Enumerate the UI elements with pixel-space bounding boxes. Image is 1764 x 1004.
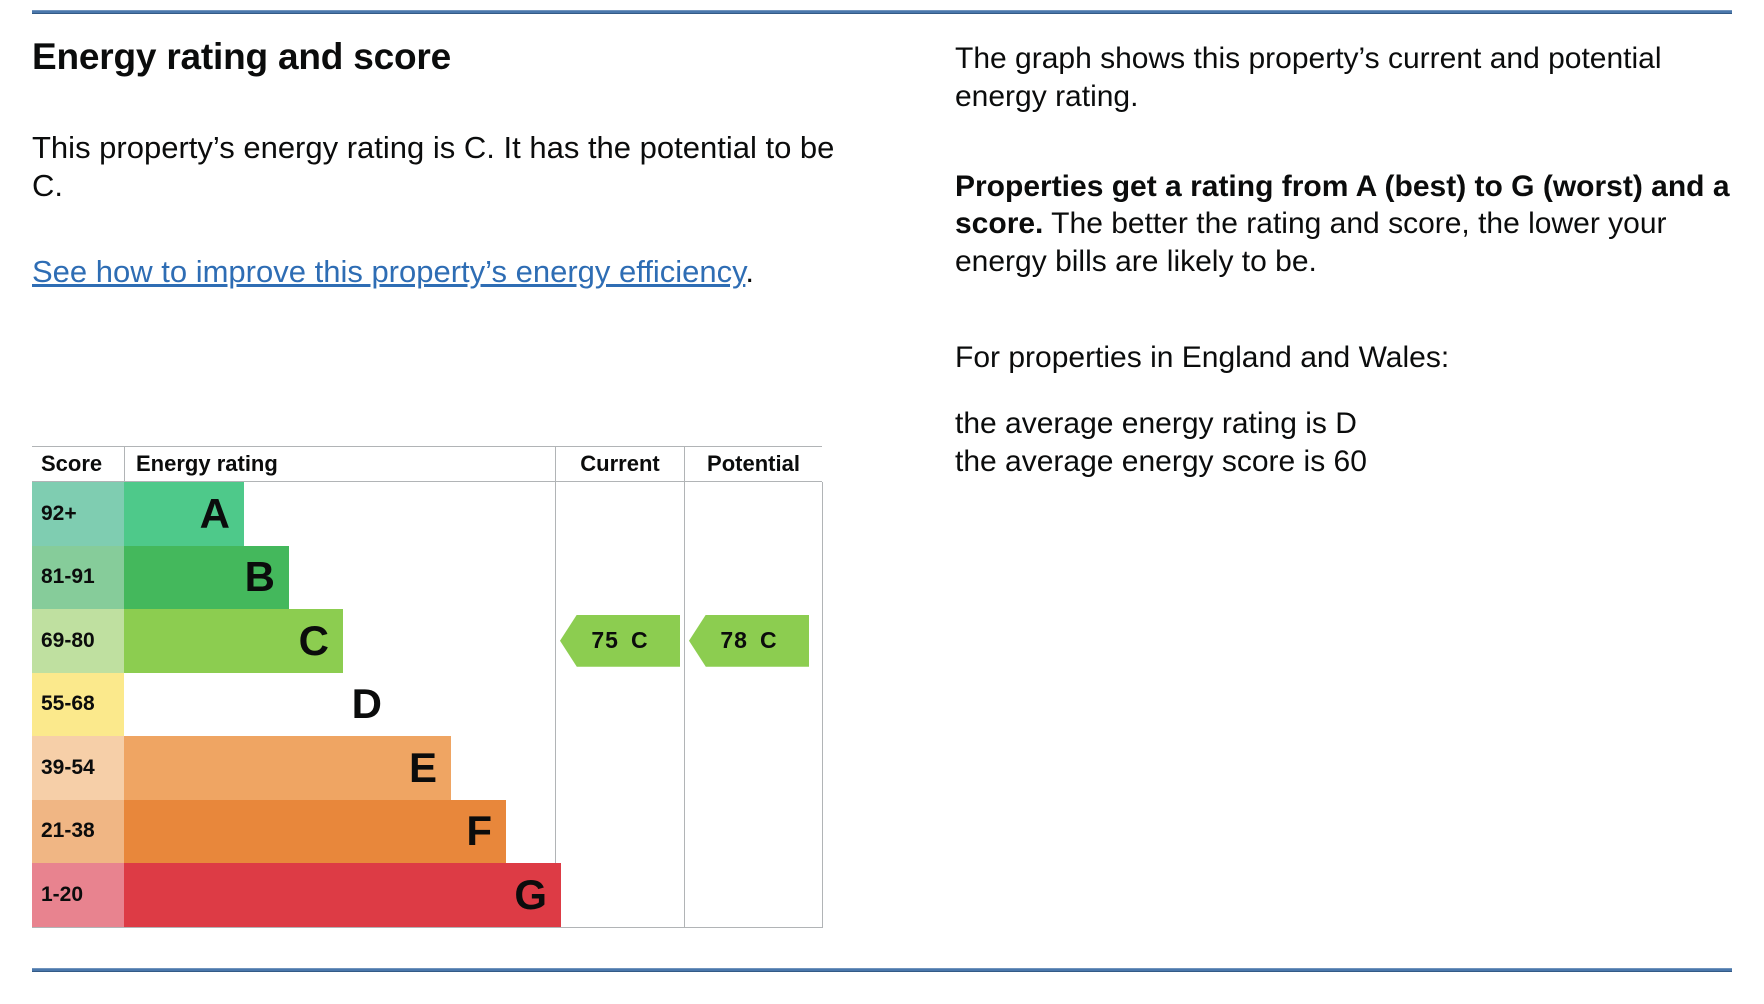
average-score-text: the average energy score is 60 [955, 443, 1745, 481]
band-letter-e: E [409, 747, 437, 789]
region-label-text: For properties in England and Wales: [955, 339, 1745, 377]
potential-rating-letter: C [760, 627, 778, 654]
spacer [32, 205, 852, 253]
rating-band-row-f: 21-38F [32, 800, 555, 864]
band-bar-g: G [124, 863, 561, 927]
band-letter-b: B [245, 556, 275, 598]
rating-band-row-d: 55-68D [32, 673, 555, 737]
current-rating-marker: 75C [560, 615, 680, 667]
rating-band-row-e: 39-54E [32, 736, 555, 800]
average-rating-text: the average energy rating is D [955, 405, 1745, 443]
graph-intro-text: The graph shows this property’s current … [955, 40, 1745, 116]
band-bar-d: D [124, 673, 396, 737]
column-divider-current [555, 482, 556, 927]
column-header-score: Score [32, 447, 124, 481]
graph-bands-area: 92+A81-91B69-80C55-68D39-54E21-38F1-20G7… [32, 482, 822, 927]
column-divider-potential [684, 482, 685, 927]
band-bar-a: A [124, 482, 244, 546]
rating-band-row-g: 1-20G [32, 863, 555, 927]
column-header-energy-rating: Energy rating [124, 447, 555, 481]
band-score-range-c: 69-80 [32, 609, 124, 673]
rating-explanation-rest: The better the rating and score, the low… [955, 207, 1667, 278]
epc-energy-rating-page: Energy rating and score This property’s … [0, 0, 1764, 1004]
rating-summary-text: This property’s energy rating is C. It h… [32, 129, 852, 206]
band-bar-b: B [124, 546, 289, 610]
spacer [32, 79, 852, 129]
band-letter-f: F [466, 810, 492, 852]
band-letter-c: C [299, 620, 329, 662]
energy-rating-graph: Score Energy rating Current Potential 92… [32, 446, 822, 927]
current-score-value: 75 [591, 627, 619, 654]
band-score-range-g: 1-20 [32, 863, 124, 927]
right-column: The graph shows this property’s current … [955, 40, 1745, 480]
rating-band-row-b: 81-91B [32, 546, 555, 610]
band-bar-f: F [124, 800, 506, 864]
top-divider-rule [32, 10, 1732, 14]
band-letter-g: G [514, 874, 547, 916]
left-column: Energy rating and score This property’s … [32, 36, 852, 292]
band-score-range-a: 92+ [32, 482, 124, 546]
band-score-range-b: 81-91 [32, 546, 124, 610]
rating-band-row-a: 92+A [32, 482, 555, 546]
spacer [955, 116, 1745, 168]
band-score-range-d: 55-68 [32, 673, 124, 737]
spacer [955, 377, 1745, 405]
bottom-divider-rule [32, 968, 1732, 972]
band-letter-d: D [352, 683, 382, 725]
link-trailing-period: . [745, 254, 754, 289]
potential-rating-marker: 78C [689, 615, 809, 667]
improve-efficiency-link[interactable]: See how to improve this property’s energ… [32, 254, 745, 289]
band-bar-c: C [124, 609, 343, 673]
graph-bottom-border [32, 927, 823, 928]
column-header-current: Current [555, 447, 684, 481]
column-divider-right-edge [822, 482, 823, 927]
potential-score-value: 78 [720, 627, 748, 654]
band-bar-e: E [124, 736, 451, 800]
rating-band-row-c: 69-80C [32, 609, 555, 673]
improve-efficiency-paragraph: See how to improve this property’s energ… [32, 253, 852, 291]
column-header-potential: Potential [684, 447, 822, 481]
page-title: Energy rating and score [32, 36, 852, 79]
rating-explanation-text: Properties get a rating from A (best) to… [955, 168, 1745, 281]
band-score-range-f: 21-38 [32, 800, 124, 864]
spacer [955, 281, 1745, 339]
graph-header-row: Score Energy rating Current Potential [32, 446, 822, 482]
band-letter-a: A [200, 493, 230, 535]
band-score-range-e: 39-54 [32, 736, 124, 800]
current-rating-letter: C [631, 627, 649, 654]
